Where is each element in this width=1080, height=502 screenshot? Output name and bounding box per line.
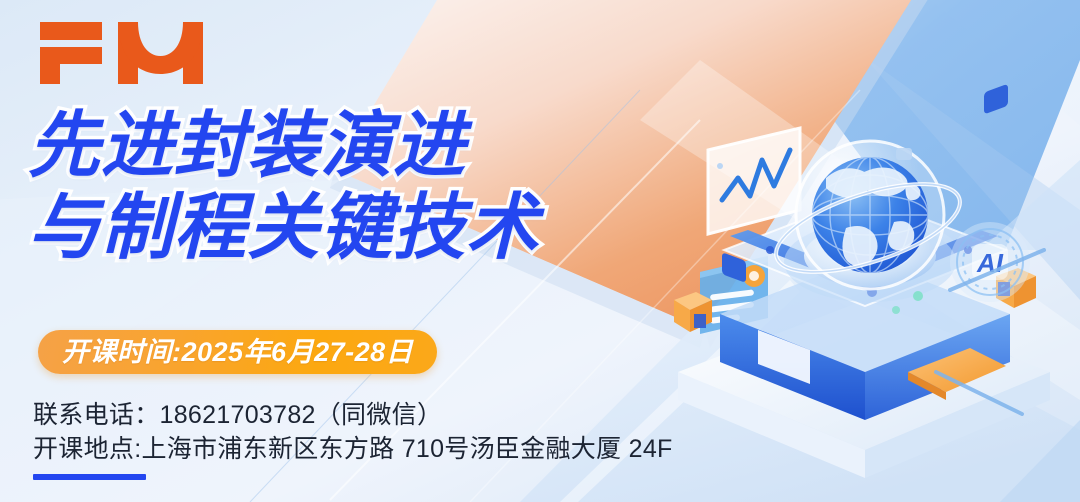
fm-logo bbox=[40, 22, 205, 84]
contact-info: 联系电话：18621703782（同微信） 开课地点:上海市浦东新区东方路 71… bbox=[33, 398, 673, 466]
contact-venue: 开课地点:上海市浦东新区东方路 710号汤臣金融大厦 24F bbox=[33, 432, 673, 466]
contact-phone: 联系电话：18621703782（同微信） bbox=[33, 398, 673, 432]
illustration-3d: AI bbox=[650, 0, 1080, 502]
promo-banner: 先进封装演进 与制程关键技术 开课时间:2025年6月27-28日 联系电话：1… bbox=[0, 0, 1080, 502]
line-chart-card bbox=[708, 128, 800, 234]
title-line-2: 与制程关键技术 bbox=[28, 190, 708, 266]
course-date-text: 开课时间:2025年6月27-28日 bbox=[62, 339, 413, 366]
course-date-badge: 开课时间:2025年6月27-28日 bbox=[38, 330, 437, 374]
accent-underline bbox=[33, 474, 146, 480]
page-title: 先进封装演进 与制程关键技术 bbox=[28, 108, 708, 266]
title-line-1: 先进封装演进 bbox=[28, 108, 708, 184]
